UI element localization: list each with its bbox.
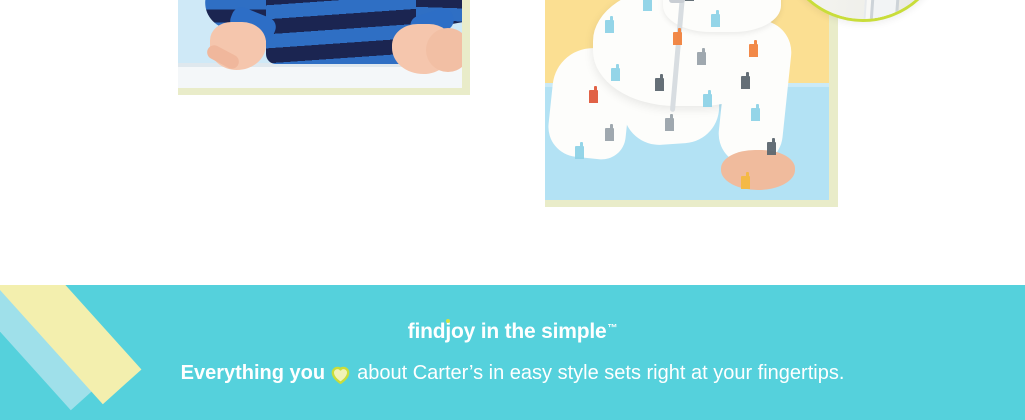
baby-llama-sleeper-card[interactable]: [545, 0, 838, 207]
llama-print-motif: [643, 0, 652, 9]
llama-print-motif: [589, 90, 598, 101]
subline-rest-text: about Carter’s in easy style sets right …: [357, 362, 844, 385]
llama-print-motif: [605, 20, 614, 31]
llama-print-motif: [749, 44, 758, 55]
baby-right-fingers: [426, 28, 462, 72]
sleeper-zipper-pull: [669, 0, 685, 3]
llama-print-motif: [605, 128, 614, 139]
llama-print-motif: [741, 76, 750, 87]
llama-print-motif: [575, 146, 584, 157]
baby-striped-outfit-photo: [178, 0, 462, 88]
banner-subline: Everything you about Carter’s in easy st…: [181, 362, 845, 385]
zipper-detail-pull-bottom: [869, 0, 901, 22]
baby-striped-outfit-card[interactable]: [178, 0, 470, 95]
headline-j-with-dot: j: [445, 320, 451, 344]
llama-print-motif: [655, 78, 664, 89]
llama-print-motif: [673, 32, 682, 43]
llama-print-motif: [611, 68, 620, 79]
hero-photo-area: [0, 0, 1025, 285]
banner-headline: find joy in the simple™: [408, 320, 618, 344]
llama-print-motif: [697, 52, 706, 63]
llama-print-motif: [703, 94, 712, 105]
headline-part-1: find: [408, 320, 446, 344]
llama-print-motif: [741, 176, 750, 187]
llama-print-motif: [751, 108, 760, 119]
llama-print-motif: [767, 142, 776, 153]
llama-print-motif: [711, 14, 720, 25]
subline-bold-text: Everything you: [181, 362, 325, 385]
trademark-symbol: ™: [608, 323, 618, 334]
llama-print-motif: [665, 118, 674, 129]
headline-part-2: oy in the simple: [451, 320, 607, 344]
heart-icon: [331, 366, 350, 384]
zipper-detail-circle: [780, 0, 946, 22]
baby-llama-sleeper-photo: [545, 0, 829, 200]
promo-banner: find joy in the simple™ Everything you a…: [0, 285, 1025, 420]
baby-right-hand: [721, 150, 795, 190]
